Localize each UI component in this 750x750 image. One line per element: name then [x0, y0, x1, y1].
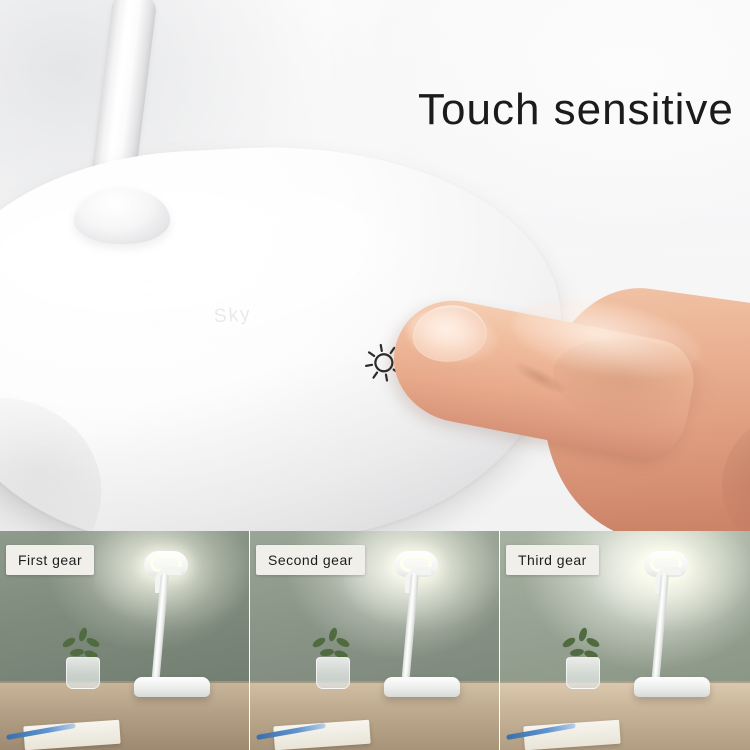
base-branding-text: Sky	[213, 304, 252, 329]
lamp-arm	[151, 573, 169, 685]
leaf	[585, 636, 601, 649]
hand-pressing-button	[392, 296, 750, 531]
lamp-arm	[401, 573, 419, 685]
leaf	[561, 636, 577, 649]
leaf	[335, 636, 351, 649]
lamp-base-mini	[134, 677, 210, 697]
leaf	[61, 636, 77, 649]
leaf	[319, 648, 334, 657]
gear-caption: First gear	[6, 545, 94, 575]
hero-photo: Sky ON/OFF	[0, 0, 750, 531]
leaf	[69, 648, 84, 657]
glass-jar	[566, 657, 600, 689]
gear-panel-third: Third gear	[500, 531, 750, 750]
brightness-gear-strip: First gear	[0, 531, 750, 750]
leaf	[569, 648, 584, 657]
leaf	[311, 636, 327, 649]
finger-highlight	[402, 302, 502, 371]
plant-in-jar	[556, 623, 612, 689]
product-image-page: Sky ON/OFF	[0, 0, 750, 750]
hero-headline: Touch sensitive	[418, 88, 734, 132]
glass-jar	[316, 657, 350, 689]
lamp-base-mini	[384, 677, 460, 697]
glass-jar	[66, 657, 100, 689]
plant-in-jar	[306, 623, 362, 689]
lamp-neck-collar	[74, 188, 170, 244]
gear-panel-first: First gear	[0, 531, 250, 750]
mini-lamp	[628, 551, 718, 711]
lamp-arm	[651, 573, 669, 685]
gear-caption: Third gear	[506, 545, 599, 575]
gear-caption: Second gear	[256, 545, 365, 575]
leaf	[85, 636, 101, 649]
mini-lamp	[378, 551, 468, 711]
lamp-base-mini	[634, 677, 710, 697]
mini-lamp	[128, 551, 218, 711]
plant-in-jar	[56, 623, 112, 689]
gear-panel-second: Second gear	[250, 531, 500, 750]
